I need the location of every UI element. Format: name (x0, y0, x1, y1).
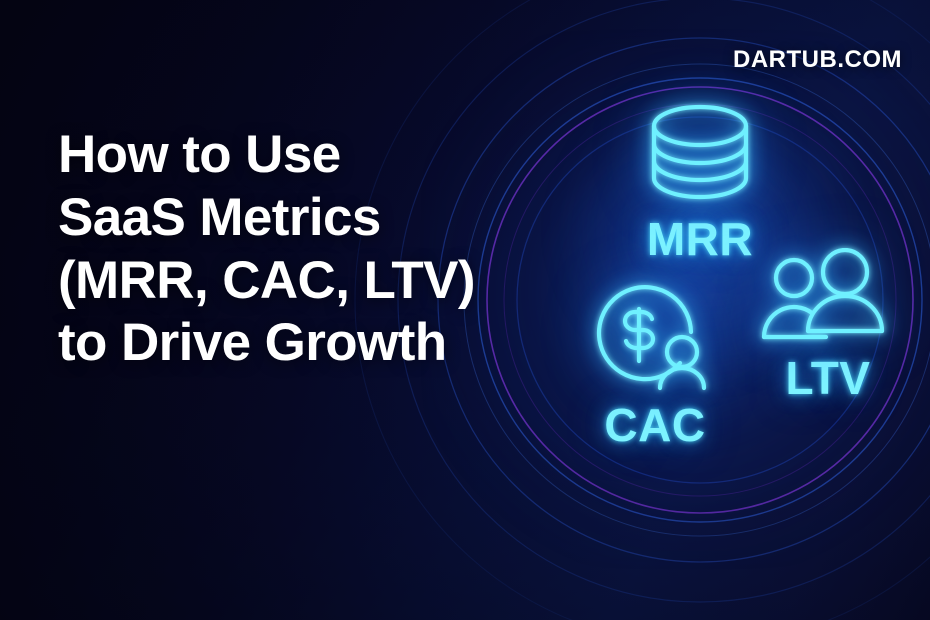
dollar-circle-person-icon (560, 275, 750, 400)
page-title: How to Use SaaS Metrics (MRR, CAC, LTV) … (58, 124, 528, 375)
title-line-2: SaaS Metrics (58, 187, 528, 250)
metric-label-cac: CAC (560, 402, 750, 448)
two-people-icon (748, 248, 908, 353)
brand-watermark: DARTUB.COM (733, 46, 902, 74)
metric-badge-mrr: MRR (600, 100, 800, 262)
title-line-1: How to Use (58, 124, 528, 187)
database-cylinder-icon (600, 100, 800, 210)
title-line-4: to Drive Growth (58, 312, 528, 375)
metric-badge-ltv: LTV (748, 248, 908, 401)
metric-badge-cac: CAC (560, 275, 750, 448)
metric-label-ltv: LTV (748, 355, 908, 401)
social-banner: DARTUB.COM How to Use SaaS Metrics (MRR,… (0, 0, 930, 620)
title-line-3: (MRR, CAC, LTV) (58, 250, 528, 313)
